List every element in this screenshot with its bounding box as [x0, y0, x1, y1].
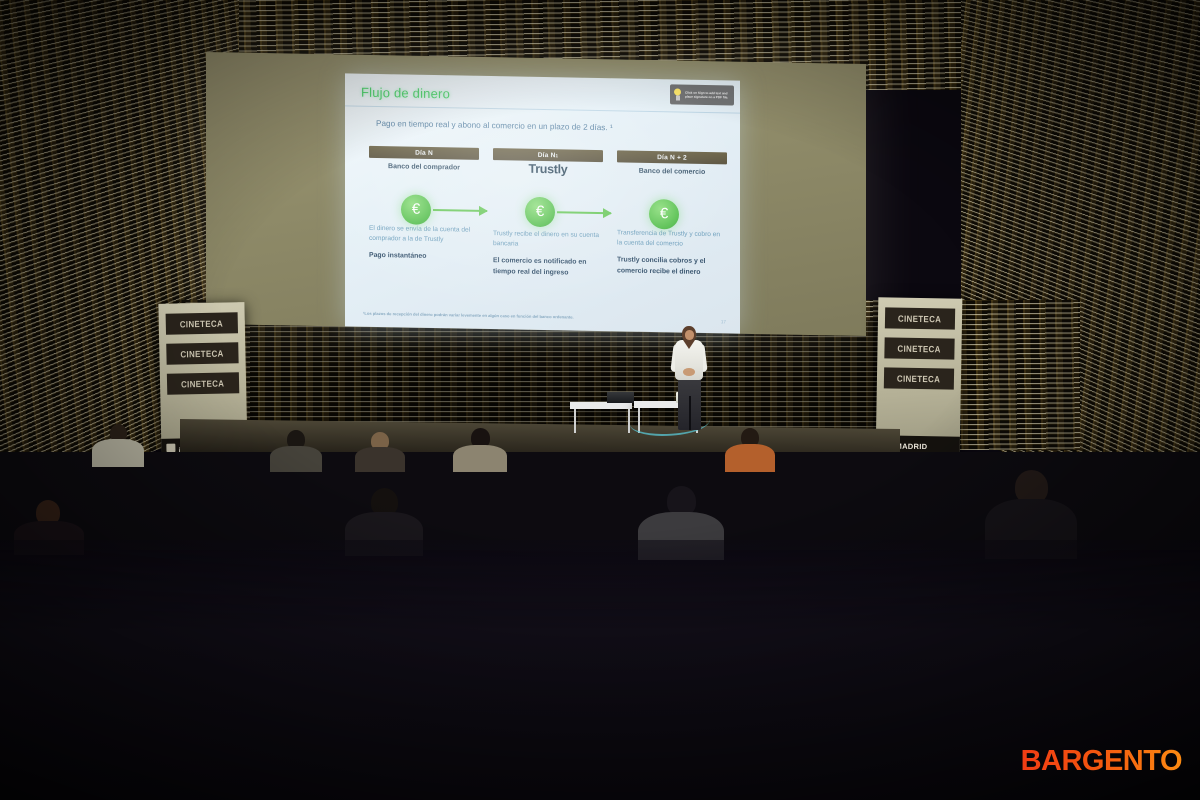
banner-block: CINETECA [884, 367, 954, 389]
banner-block-label: CINETECA [898, 313, 941, 324]
slide-title: Flujo de dinero [361, 85, 450, 102]
day-label-2-superscript: 1 [556, 153, 559, 158]
audience-member [355, 432, 405, 468]
slide-divider [345, 105, 740, 113]
lightbulb-icon [673, 88, 682, 101]
day-label-2-text: Día N [538, 151, 556, 158]
laptop [607, 392, 634, 403]
stage-backdrop-slats [250, 320, 930, 430]
day-label-3: Día N + 2 [617, 150, 727, 164]
column-heading-1: Banco del comprador [369, 163, 479, 172]
euro-row-2: € [493, 196, 603, 228]
banner-block: CINETECA [885, 307, 955, 329]
column-emphasis-3: Trustly concilia cobros y el comercio re… [617, 256, 727, 279]
day-label-1: Día N [369, 146, 479, 160]
euro-circle-icon: € [401, 194, 431, 225]
slide-subtitle: Pago en tiempo real y abono al comercio … [376, 119, 613, 132]
banner-block: CINETECA [166, 342, 238, 365]
flow-column-2: Día N1 Trustly € Trustly recibe el diner… [493, 148, 603, 280]
column-emphasis-2: El comercio es notificado en tiempo real… [493, 257, 603, 280]
auditorium-photo: Flujo de dinero Pago en tiempo real y ab… [0, 0, 1200, 800]
banner-block-label: CINETECA [180, 318, 223, 329]
audience-member [270, 430, 322, 468]
flow-column-3: Día N + 2 Banco del comercio € Transfere… [617, 150, 727, 282]
column-emphasis-1: Pago instantáneo [369, 251, 479, 264]
presentation-slide: Flujo de dinero Pago en tiempo real y ab… [345, 73, 740, 333]
column-body-3: Transferencia de Trustly y cobro en la c… [617, 228, 727, 250]
sign-tooltip-badge: Click on Sign to add text and place sign… [670, 84, 734, 105]
day-label-1-text: Día N [415, 149, 433, 156]
table-leg [574, 409, 576, 433]
flow-column-1: Día N Banco del comprador € El dinero se… [369, 146, 479, 278]
day-label-2: Día N1 [493, 148, 603, 162]
slide-page-number: 17 [721, 319, 726, 324]
column-body-2: Trustly recibe el dinero en su cuenta ba… [493, 229, 603, 251]
flow-columns: Día N Banco del comprador € El dinero se… [369, 146, 728, 282]
banner-block-label: CINETECA [181, 378, 224, 389]
day-label-3-text: Día N + 2 [657, 154, 687, 162]
audience-member [453, 428, 507, 468]
banner-block: CINETECA [884, 337, 954, 359]
column-heading-2: Trustly [493, 161, 603, 177]
euro-row-1: € [369, 194, 479, 226]
euro-circle-icon: € [525, 197, 555, 228]
column-heading-3: Banco del comercio [617, 167, 727, 176]
presenter [669, 326, 709, 430]
banner-block-label: CINETECA [898, 343, 941, 354]
stage-table-left [570, 402, 632, 409]
slide-footnote: ¹Los plazos de recepción del dinero podr… [363, 311, 722, 323]
banner-block-label: CINETECA [897, 373, 940, 384]
right-wall-slats [961, 0, 1200, 530]
banner-block: CINETECA [167, 372, 239, 395]
bargento-watermark: BARGENTO [1021, 745, 1182, 778]
audience-member [92, 424, 144, 464]
euro-row-3: € [617, 198, 727, 230]
banner-block: CINETECA [166, 312, 238, 335]
audience-member [725, 428, 775, 468]
sign-tooltip-text: Click on Sign to add text and place sign… [685, 90, 731, 99]
banner-block-label: CINETECA [181, 348, 224, 359]
column-body-1: El dinero se envía de la cuenta del comp… [369, 224, 479, 246]
euro-circle-icon: € [649, 199, 679, 230]
